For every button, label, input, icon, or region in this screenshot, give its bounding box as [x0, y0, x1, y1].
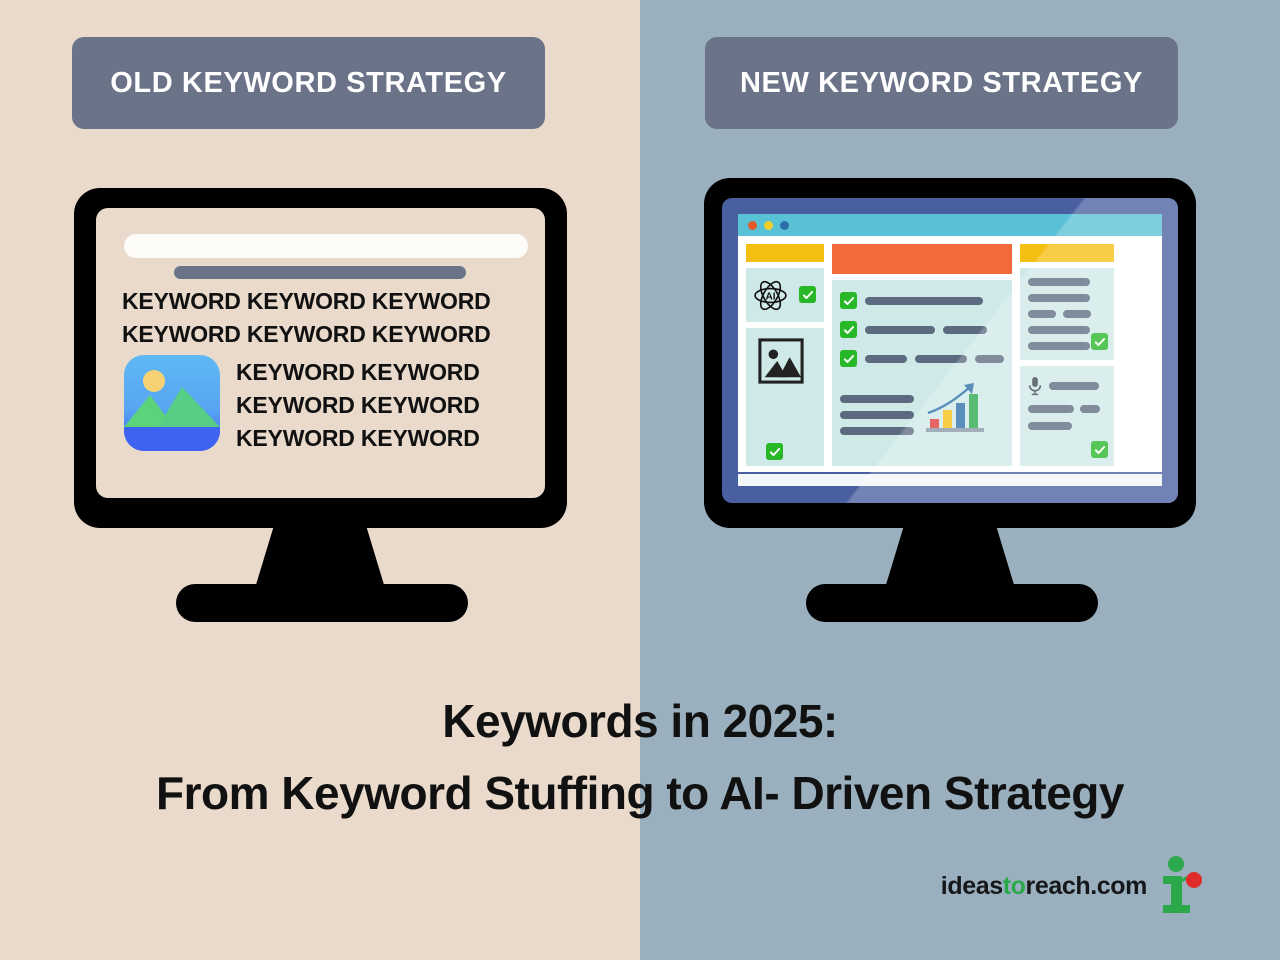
monitor-neck: [255, 528, 385, 588]
content-column-left: AI: [746, 244, 824, 466]
column-header-block-yellow: [1020, 244, 1114, 262]
ai-card: AI: [746, 268, 824, 322]
page-title: Keywords in 2025: From Keyword Stuffing …: [0, 685, 1280, 829]
text-placeholder-bar: [1028, 405, 1074, 413]
browser-window-footer: [738, 474, 1162, 486]
text-placeholder-bar: [840, 427, 914, 435]
window-close-dot-icon[interactable]: [748, 221, 757, 230]
logo-text-after: reach.com: [1026, 872, 1147, 900]
text-placeholder-bar: [943, 326, 987, 334]
window-maximize-dot-icon[interactable]: [780, 221, 789, 230]
image-check-icon: [766, 443, 783, 460]
site-logo[interactable]: ideastoreach.com: [925, 855, 1205, 917]
voice-search-check-icon: [1091, 441, 1108, 458]
column-header-block-orange: [832, 244, 1012, 274]
keyword-line: KEYWORD KEYWORD KEYWORD: [122, 321, 491, 348]
content-column-middle: [832, 244, 1012, 466]
image-placeholder-icon: [124, 355, 220, 451]
keyword-line: KEYWORD KEYWORD: [236, 359, 480, 386]
logo-text-before: ideas: [941, 872, 1003, 900]
checklist-row: [840, 350, 1004, 367]
image-card: [746, 328, 824, 466]
ai-atom-icon: AI: [752, 277, 789, 314]
text-placeholder-bar: [1028, 278, 1090, 286]
text-placeholder-bar: [915, 355, 967, 363]
text-placeholder-bar: [865, 297, 983, 305]
browser-titlebar: [738, 214, 1162, 236]
ideastoreach-i-mark-icon: [1159, 855, 1205, 917]
checklist-row: [840, 321, 1004, 338]
image-frame-icon: [758, 338, 804, 384]
site-logo-text: ideastoreach.com: [941, 872, 1147, 901]
text-placeholder-bar: [975, 355, 1004, 363]
checklist-card: [832, 280, 1012, 466]
checklist-check-icon: [840, 292, 857, 309]
text-placeholder-bar: [1080, 405, 1100, 413]
search-bar-placeholder[interactable]: [124, 234, 528, 258]
checklist-check-icon: [840, 321, 857, 338]
checklist-check-icon: [840, 350, 857, 367]
window-minimize-dot-icon[interactable]: [764, 221, 773, 230]
microphone-icon: [1028, 376, 1042, 396]
new-strategy-screen: AI: [722, 198, 1178, 503]
text-placeholder-bar: [865, 355, 907, 363]
content-column-right: [1020, 244, 1114, 466]
growth-bar-chart-icon: [924, 379, 986, 435]
text-list-check-icon: [1091, 333, 1108, 350]
text-placeholder-bar: [865, 326, 935, 334]
keyword-line: KEYWORD KEYWORD KEYWORD: [122, 288, 491, 315]
old-strategy-badge-label: OLD KEYWORD STRATEGY: [110, 67, 507, 100]
text-placeholder-bar: [840, 395, 914, 403]
keyword-line: KEYWORD KEYWORD: [236, 425, 480, 452]
old-strategy-screen: KEYWORD KEYWORD KEYWORD KEYWORD KEYWORD …: [96, 208, 545, 498]
keyword-line: KEYWORD KEYWORD: [236, 392, 480, 419]
text-placeholder-bar: [1028, 294, 1090, 302]
text-placeholder-bar: [1049, 382, 1099, 390]
old-strategy-badge: OLD KEYWORD STRATEGY: [72, 37, 545, 129]
page-title-line-1: Keywords in 2025:: [0, 685, 1280, 757]
page-title-line-2: From Keyword Stuffing to AI- Driven Stra…: [0, 757, 1280, 829]
browser-content: AI: [746, 244, 1154, 466]
text-placeholder-bar: [1028, 342, 1090, 350]
voice-search-card: [1020, 366, 1114, 466]
text-placeholder-bar: [1063, 310, 1091, 318]
monitor-neck: [885, 528, 1015, 588]
browser-window: AI: [738, 214, 1162, 472]
text-placeholder-bar: [1028, 326, 1090, 334]
new-strategy-badge: NEW KEYWORD STRATEGY: [705, 37, 1178, 129]
checklist-row: [840, 292, 1004, 309]
text-list-card: [1020, 268, 1114, 360]
divider-bar-placeholder: [174, 266, 466, 279]
new-strategy-badge-label: NEW KEYWORD STRATEGY: [740, 67, 1143, 100]
column-header-block-yellow: [746, 244, 824, 262]
ai-check-icon: [799, 286, 816, 303]
monitor-base: [176, 584, 468, 622]
text-placeholder-bar: [1028, 422, 1072, 430]
text-placeholder-bar: [840, 411, 914, 419]
text-placeholder-bar: [1028, 310, 1056, 318]
monitor-base: [806, 584, 1098, 622]
svg-text:AI: AI: [765, 291, 775, 302]
logo-text-accent: to: [1003, 872, 1026, 900]
